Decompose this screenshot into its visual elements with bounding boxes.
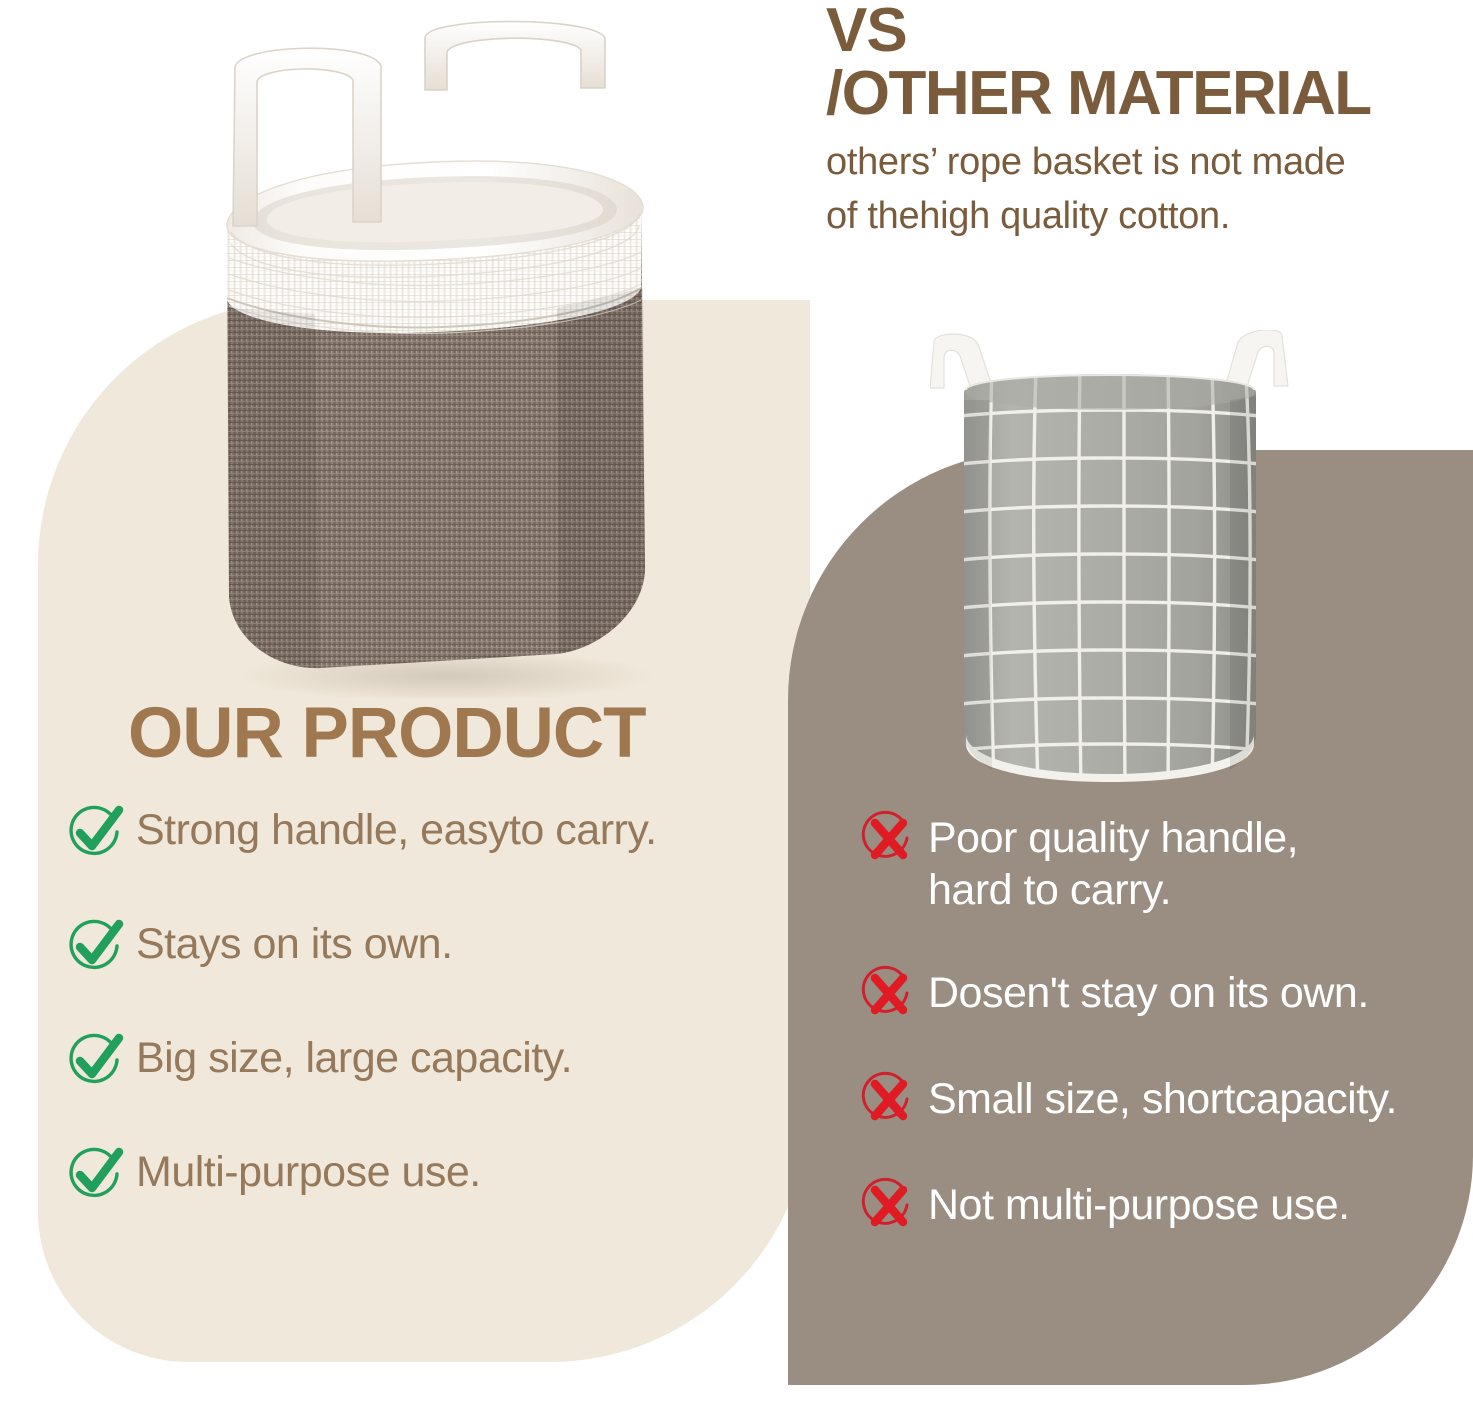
subtitle-line-2: of thehigh quality cotton. <box>826 190 1466 244</box>
comparison-infographic: VS /OTHER MATERIAL others’ rope basket i… <box>0 0 1473 1401</box>
check-circle-icon <box>66 1144 126 1204</box>
subtitle-line-1: others’ rope basket is not made <box>826 136 1466 190</box>
x-circle-icon <box>858 963 918 1023</box>
list-item-label: Big size, large capacity. <box>136 1034 572 1083</box>
list-item: Strong handle, easyto carry. <box>66 806 806 862</box>
x-circle-icon <box>858 1175 918 1235</box>
list-item-label: Multi-purpose use. <box>136 1148 481 1197</box>
our-product-benefits-list: Strong handle, easyto carry. Stays on it… <box>66 806 806 1204</box>
other-material-image <box>930 330 1290 810</box>
other-material-drawbacks-list: Poor quality handle, hard to carry. Dose… <box>858 812 1458 1235</box>
our-product-title: OUR PRODUCT <box>128 693 646 774</box>
list-item-label: Dosen't stay on its own. <box>928 967 1369 1019</box>
list-item: Big size, large capacity. <box>66 1034 806 1090</box>
list-item: Small size, shortcapacity. <box>858 1073 1458 1129</box>
check-circle-icon <box>66 802 126 862</box>
our-product-image <box>175 8 695 698</box>
check-circle-icon <box>66 916 126 976</box>
x-circle-icon <box>858 1069 918 1129</box>
list-item: Stays on its own. <box>66 920 806 976</box>
list-item: Multi-purpose use. <box>66 1148 806 1204</box>
vs-label: VS <box>826 2 1466 61</box>
list-item-label: Not multi-purpose use. <box>928 1179 1350 1231</box>
other-material-subtitle: others’ rope basket is not made of thehi… <box>826 136 1466 244</box>
header-text-block: VS /OTHER MATERIAL others’ rope basket i… <box>826 2 1466 244</box>
list-item: Not multi-purpose use. <box>858 1179 1458 1235</box>
list-item-label: Stays on its own. <box>136 920 453 969</box>
list-item-label: Poor quality handle, hard to carry. <box>928 812 1298 917</box>
list-item: Poor quality handle, hard to carry. <box>858 812 1458 917</box>
check-circle-icon <box>66 1030 126 1090</box>
list-item-label: Strong handle, easyto carry. <box>136 806 657 855</box>
other-material-title: /OTHER MATERIAL <box>826 61 1466 128</box>
list-item-label: Small size, shortcapacity. <box>928 1073 1397 1125</box>
x-circle-icon <box>858 808 918 868</box>
list-item: Dosen't stay on its own. <box>858 967 1458 1023</box>
